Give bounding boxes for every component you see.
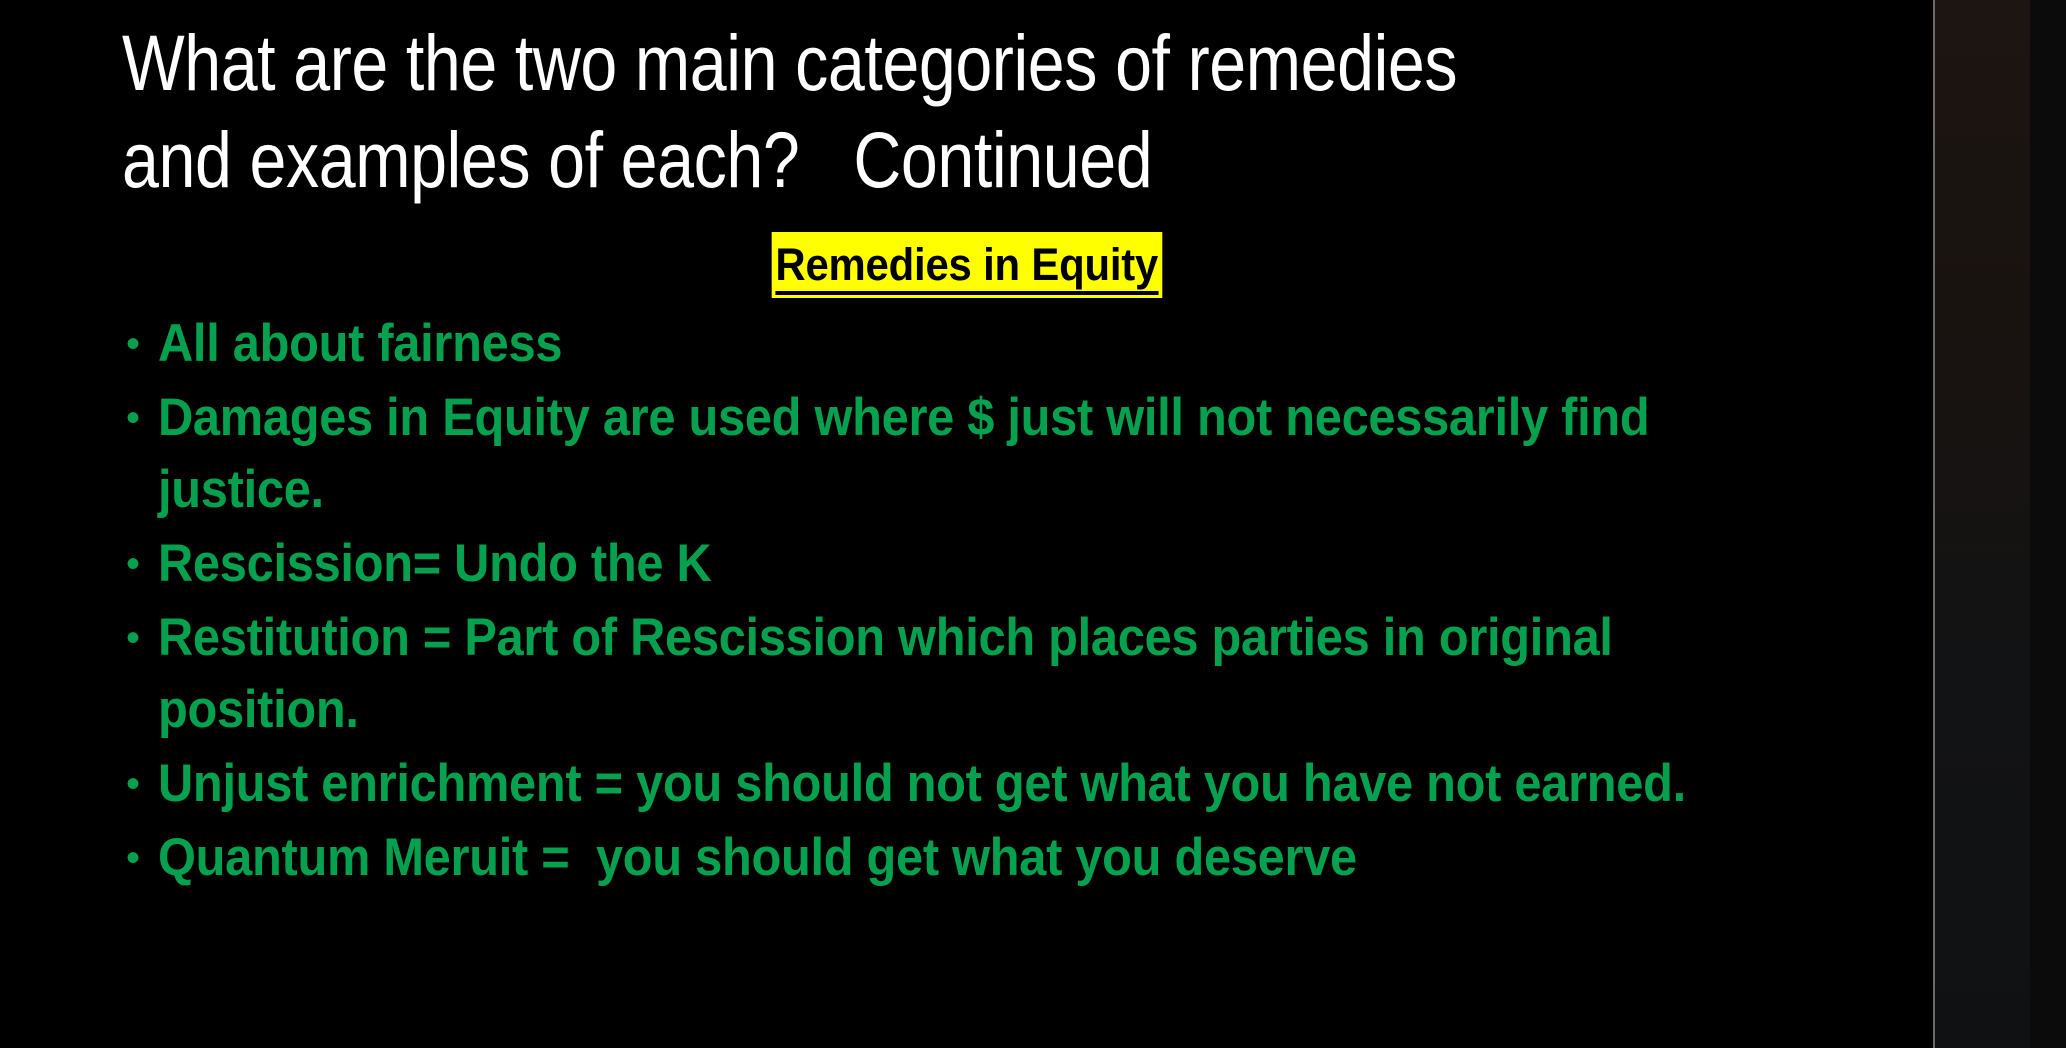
list-item-text: Unjust enrichment = you should not get w…: [158, 748, 1744, 820]
bullet-list: • All about fairness • Damages in Equity…: [122, 308, 1882, 896]
list-item: • Rescission= Undo the K: [122, 528, 1882, 600]
bullet-point-icon: •: [122, 602, 158, 674]
section-heading-row: Remedies in Equity: [0, 232, 1933, 298]
screen: What are the two main categories of reme…: [0, 0, 2066, 1048]
list-item: • Restitution = Part of Rescission which…: [122, 602, 1882, 746]
list-item-text: Rescission= Undo the K: [158, 528, 1744, 600]
list-item: • Unjust enrichment = you should not get…: [122, 748, 1882, 820]
list-item-text: Quantum Meruit = you should get what you…: [158, 822, 1744, 894]
list-item: • Quantum Meruit = you should get what y…: [122, 822, 1882, 894]
bullet-point-icon: •: [122, 528, 158, 600]
bullet-point-icon: •: [122, 748, 158, 820]
vertical-scrollbar[interactable]: [2030, 0, 2066, 1048]
right-side-panel: [1935, 0, 2030, 1048]
section-heading-highlight: Remedies in Equity: [771, 232, 1161, 298]
bullet-point-icon: •: [122, 822, 158, 894]
list-item: • All about fairness: [122, 308, 1882, 380]
presentation-slide[interactable]: What are the two main categories of reme…: [0, 0, 1933, 1048]
slide-title: What are the two main categories of reme…: [122, 14, 1550, 208]
bullet-point-icon: •: [122, 308, 158, 380]
list-item-text: Restitution = Part of Rescission which p…: [158, 602, 1744, 746]
list-item: • Damages in Equity are used where $ jus…: [122, 382, 1882, 526]
section-heading-text: Remedies in Equity: [775, 239, 1158, 295]
list-item-text: All about fairness: [158, 308, 1744, 380]
bullet-point-icon: •: [122, 382, 158, 454]
list-item-text: Damages in Equity are used where $ just …: [158, 382, 1744, 526]
